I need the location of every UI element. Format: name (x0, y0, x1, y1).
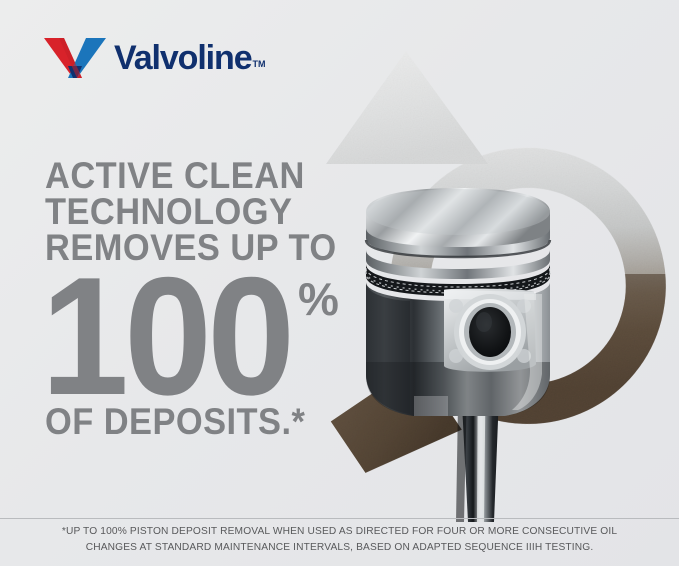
brand-logo[interactable]: ValvolineTM (44, 36, 266, 84)
arrowhead-clean (326, 51, 488, 164)
valvoline-v-chevron-icon (44, 36, 106, 80)
footer-line-2: CHANGES AT STANDARD MAINTENANCE INTERVAL… (0, 540, 679, 556)
big-number: 100 (41, 252, 290, 420)
brand-trademark: TM (253, 59, 266, 69)
headline-line-1: ACTIVE CLEAN (45, 158, 324, 194)
headline-line-4: OF DEPOSITS.* (45, 404, 324, 440)
brand-wordmark: ValvolineTM (114, 38, 266, 84)
percent-symbol: % (298, 276, 339, 322)
headline-block: ACTIVE CLEAN TECHNOLOGY REMOVES UP TO 10… (45, 158, 345, 440)
advertisement-canvas: ValvolineTM ACTIVE CLEAN TECHNOLOGY REMO… (0, 0, 679, 566)
footer-disclaimer: *UP TO 100% PISTON DEPOSIT REMOVAL WHEN … (0, 524, 679, 556)
footer-line-1: *UP TO 100% PISTON DEPOSIT REMOVAL WHEN … (0, 524, 679, 540)
wrist-pin-bore (469, 307, 511, 357)
engine-piston (366, 188, 550, 416)
big-number-row: 100 % (45, 268, 345, 398)
headline-line-2: TECHNOLOGY (45, 194, 324, 230)
brand-name: Valvoline (114, 39, 252, 77)
product-artwork (318, 44, 679, 522)
footer-divider (0, 518, 679, 519)
